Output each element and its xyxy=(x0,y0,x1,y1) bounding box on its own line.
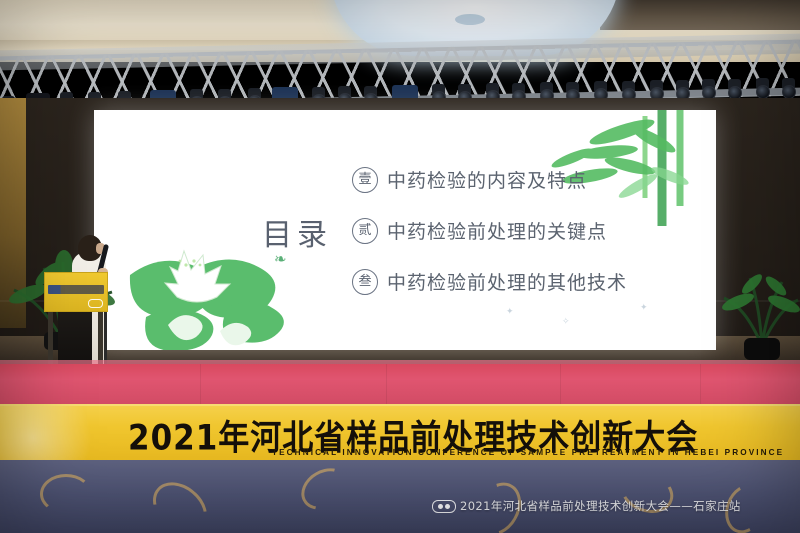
toc-numeral: 叁 xyxy=(352,269,378,295)
stage-light-lens xyxy=(756,85,770,99)
list-item: 壹 中药检验的内容及特点 xyxy=(352,166,702,193)
stage-light-par xyxy=(486,83,499,95)
stage-light-par xyxy=(756,78,769,90)
banner-title-english: TECHNICAL INNOVATION CONFERENCE OF SAMPL… xyxy=(272,448,784,457)
stage-carpet xyxy=(0,364,800,408)
hotel-carpet-floor xyxy=(0,460,800,533)
stage-light-lens xyxy=(782,85,796,99)
conference-banner: 2021年河北省样品前处理技术创新大会 TECHNICAL INNOVATION… xyxy=(0,404,800,464)
stage-light-par xyxy=(458,84,471,96)
conference-stage-photo: ✦ ✧ ✦ 目录 ❧ 壹 中药检验的内容及特点 贰 中药检验前处理的关键点 xyxy=(0,0,800,533)
slide-canvas: ✦ ✧ ✦ 目录 ❧ 壹 中药检验的内容及特点 贰 中药检验前处理的关键点 xyxy=(94,110,716,350)
stage-light-par xyxy=(512,83,525,95)
list-item: 叁 中药检验前处理的其他技术 xyxy=(352,268,702,295)
stage-light-par xyxy=(622,81,635,93)
toc-item-label: 中药检验的内容及特点 xyxy=(387,166,587,193)
toc-list: 壹 中药检验的内容及特点 贰 中药检验前处理的关键点 叁 中药检验前处理的其他技… xyxy=(352,166,702,319)
decor-swirl-icon: ❧ xyxy=(274,250,287,268)
stage-light-par xyxy=(432,84,445,96)
led-screen: ✦ ✧ ✦ 目录 ❧ 壹 中药检验的内容及特点 贰 中药检验前处理的关键点 xyxy=(94,110,716,350)
ceiling-panel-vent xyxy=(455,14,485,25)
stage-light-par xyxy=(566,82,579,94)
watermark: 2021年河北省样品前处理技术创新大会——石家庄站 xyxy=(432,498,741,514)
watermark-text: 2021年河北省样品前处理技术创新大会——石家庄站 xyxy=(460,498,741,514)
stage-light-par xyxy=(338,86,351,98)
ceiling-dark-band xyxy=(600,0,800,30)
page-title: 目录 xyxy=(262,210,332,254)
stage-light-par xyxy=(364,86,377,98)
podium-sign-text xyxy=(48,285,104,294)
slide-content: 目录 ❧ 壹 中药检验的内容及特点 贰 中药检验前处理的关键点 叁 中药检验前处… xyxy=(94,110,716,350)
list-item: 贰 中药检验前处理的关键点 xyxy=(352,217,702,244)
stage-light-par xyxy=(728,79,741,91)
stage-light-par xyxy=(650,80,663,92)
toc-numeral: 贰 xyxy=(352,218,378,244)
podium-logo-icon xyxy=(88,299,103,308)
stage-light-par xyxy=(540,82,553,94)
stage-light-par xyxy=(676,80,689,92)
toc-numeral: 壹 xyxy=(352,167,378,193)
stage-light-par xyxy=(702,79,715,91)
podium-sign xyxy=(44,272,108,312)
toc-item-label: 中药检验前处理的其他技术 xyxy=(387,268,627,295)
banner-highlight xyxy=(0,406,110,464)
stage-light-par xyxy=(782,78,795,90)
stage-light-par xyxy=(594,81,607,93)
potted-palm-right xyxy=(722,250,800,362)
toc-item-label: 中药检验前处理的关键点 xyxy=(387,217,607,244)
watermark-logo-icon xyxy=(432,500,456,513)
